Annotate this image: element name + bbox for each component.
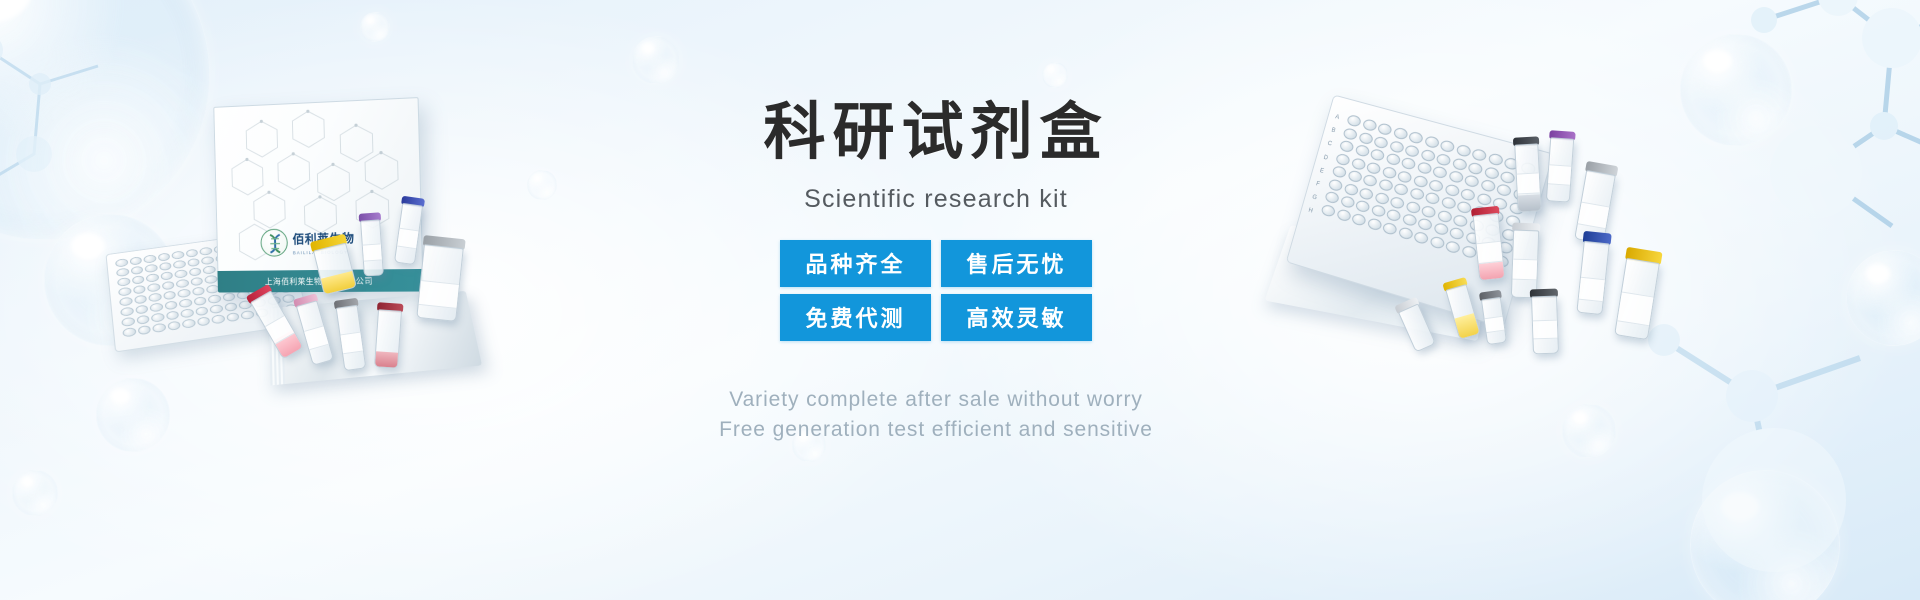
promo-banner: 佰利莱生物 BAILILAI BIOLOGY 上海佰利莱生物科技有限公司 [0,0,1920,600]
feature-badge-variety[interactable]: 品种齐全 [780,240,931,287]
tagline-line-2: Free generation test efficient and sensi… [556,415,1316,445]
bubble [360,12,390,42]
feature-badge-sensitive[interactable]: 高效灵敏 [941,294,1092,341]
vial [374,309,402,369]
vial [1576,241,1609,315]
vial [416,244,464,322]
vial [360,219,384,276]
feature-badge-after-sale[interactable]: 售后无忧 [941,240,1092,287]
vial [1531,296,1559,355]
row-label: D [1322,153,1329,165]
vial [1546,137,1574,203]
vial [1514,143,1542,212]
vial [1614,258,1660,340]
bubble [12,470,58,516]
bubble [1042,62,1068,88]
tagline-line-1: Variety complete after sale without worr… [556,385,1316,415]
page-subtitle: Scientific research kit [556,185,1316,214]
feature-badge-list: 品种齐全 售后无忧 免费代测 高效灵敏 [780,240,1092,341]
microplate-wells [1320,114,1536,268]
row-label: B [1330,126,1337,138]
product-image-right: A B C D E F G H [1280,110,1790,420]
vial [1511,230,1539,299]
row-label: A [1334,112,1341,124]
banner-text-block: 科研试剂盒 Scientific research kit 品种齐全 售后无忧 … [556,98,1316,445]
feature-badge-free-test[interactable]: 免费代测 [780,294,931,341]
bubble [96,378,170,452]
dna-icon [260,229,288,257]
row-label: C [1326,139,1333,151]
bubble [632,36,680,84]
row-label: E [1318,166,1325,178]
page-title: 科研试剂盒 [556,98,1316,167]
tagline: Variety complete after sale without worr… [556,385,1316,445]
product-image-left: 佰利莱生物 BAILILAI BIOLOGY 上海佰利莱生物科技有限公司 [100,96,570,386]
